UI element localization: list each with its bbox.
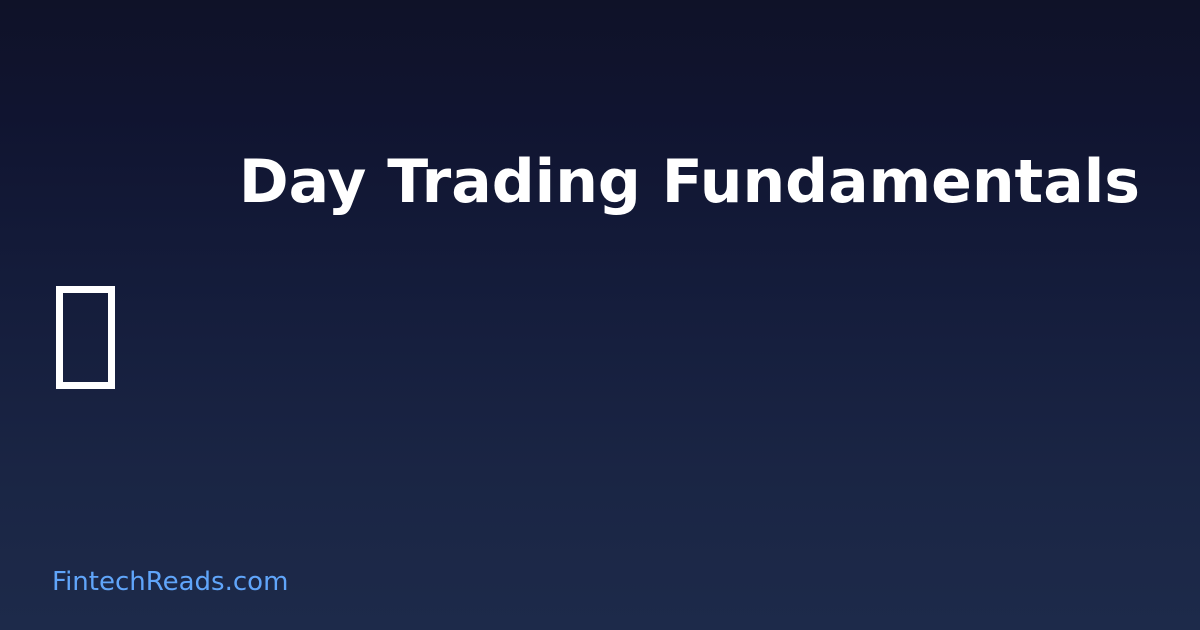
icon-container: [56, 286, 115, 389]
title-container: Day Trading Fundamentals: [0, 146, 1140, 218]
missing-glyph-tofu-box-icon: [56, 286, 115, 389]
footer: FintechReads.com: [52, 566, 288, 598]
social-share-card: Day Trading Fundamentals FintechReads.co…: [0, 0, 1200, 630]
page-title: Day Trading Fundamentals: [239, 146, 1140, 218]
site-name-label: FintechReads.com: [52, 566, 288, 598]
